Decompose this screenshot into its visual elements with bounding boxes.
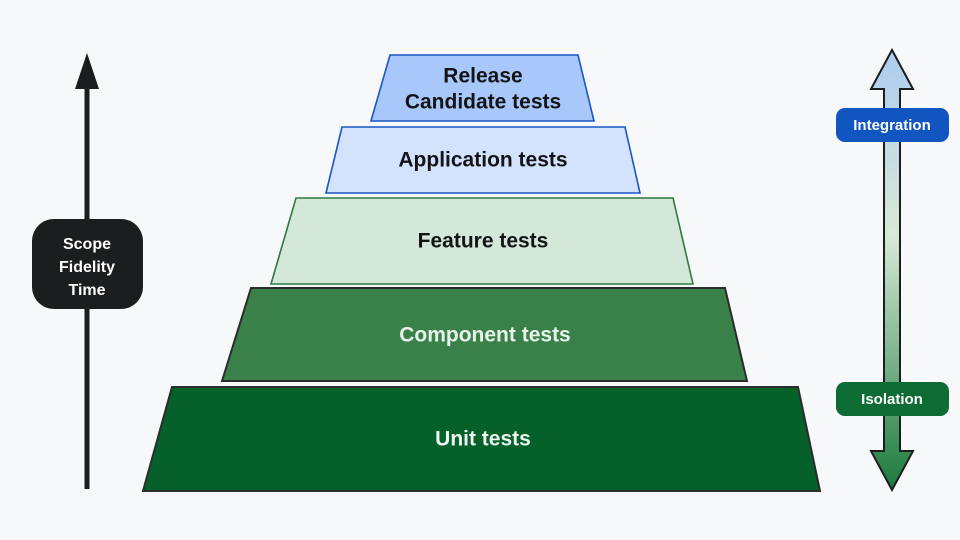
pyramid-layer-feature-tests[interactable]: Feature tests — [271, 198, 693, 284]
test-pyramid-diagram: Unit tests Component tests Feature tests… — [0, 0, 960, 540]
diagram-canvas: Unit tests Component tests Feature tests… — [0, 0, 960, 540]
pyramid-layer-application-tests[interactable]: Application tests — [326, 127, 640, 193]
feature-tests-label: Feature tests — [418, 230, 549, 253]
isolation-badge-label: Isolation — [861, 391, 923, 408]
pyramid-layer-release-candidate-tests[interactable]: Release Candidate tests — [371, 55, 594, 121]
release-candidate-tests-label-line1: Release — [443, 65, 522, 88]
component-tests-label: Component tests — [399, 324, 571, 347]
integration-badge-label: Integration — [853, 117, 931, 134]
application-tests-label: Application tests — [398, 149, 567, 172]
isolation-badge[interactable]: Isolation — [836, 382, 949, 416]
scope-fidelity-time-badge[interactable]: Scope Fidelity Time — [32, 219, 143, 309]
scope-badge-line-fidelity: Fidelity — [59, 259, 115, 276]
pyramid-layer-unit-tests[interactable]: Unit tests — [143, 387, 820, 491]
scope-badge-line-time: Time — [68, 282, 105, 299]
integration-badge[interactable]: Integration — [836, 108, 949, 142]
unit-tests-label: Unit tests — [435, 428, 531, 451]
pyramid-layer-component-tests[interactable]: Component tests — [222, 288, 747, 381]
release-candidate-tests-label-line2: Candidate tests — [405, 91, 561, 114]
scope-badge-line-scope: Scope — [63, 236, 111, 253]
